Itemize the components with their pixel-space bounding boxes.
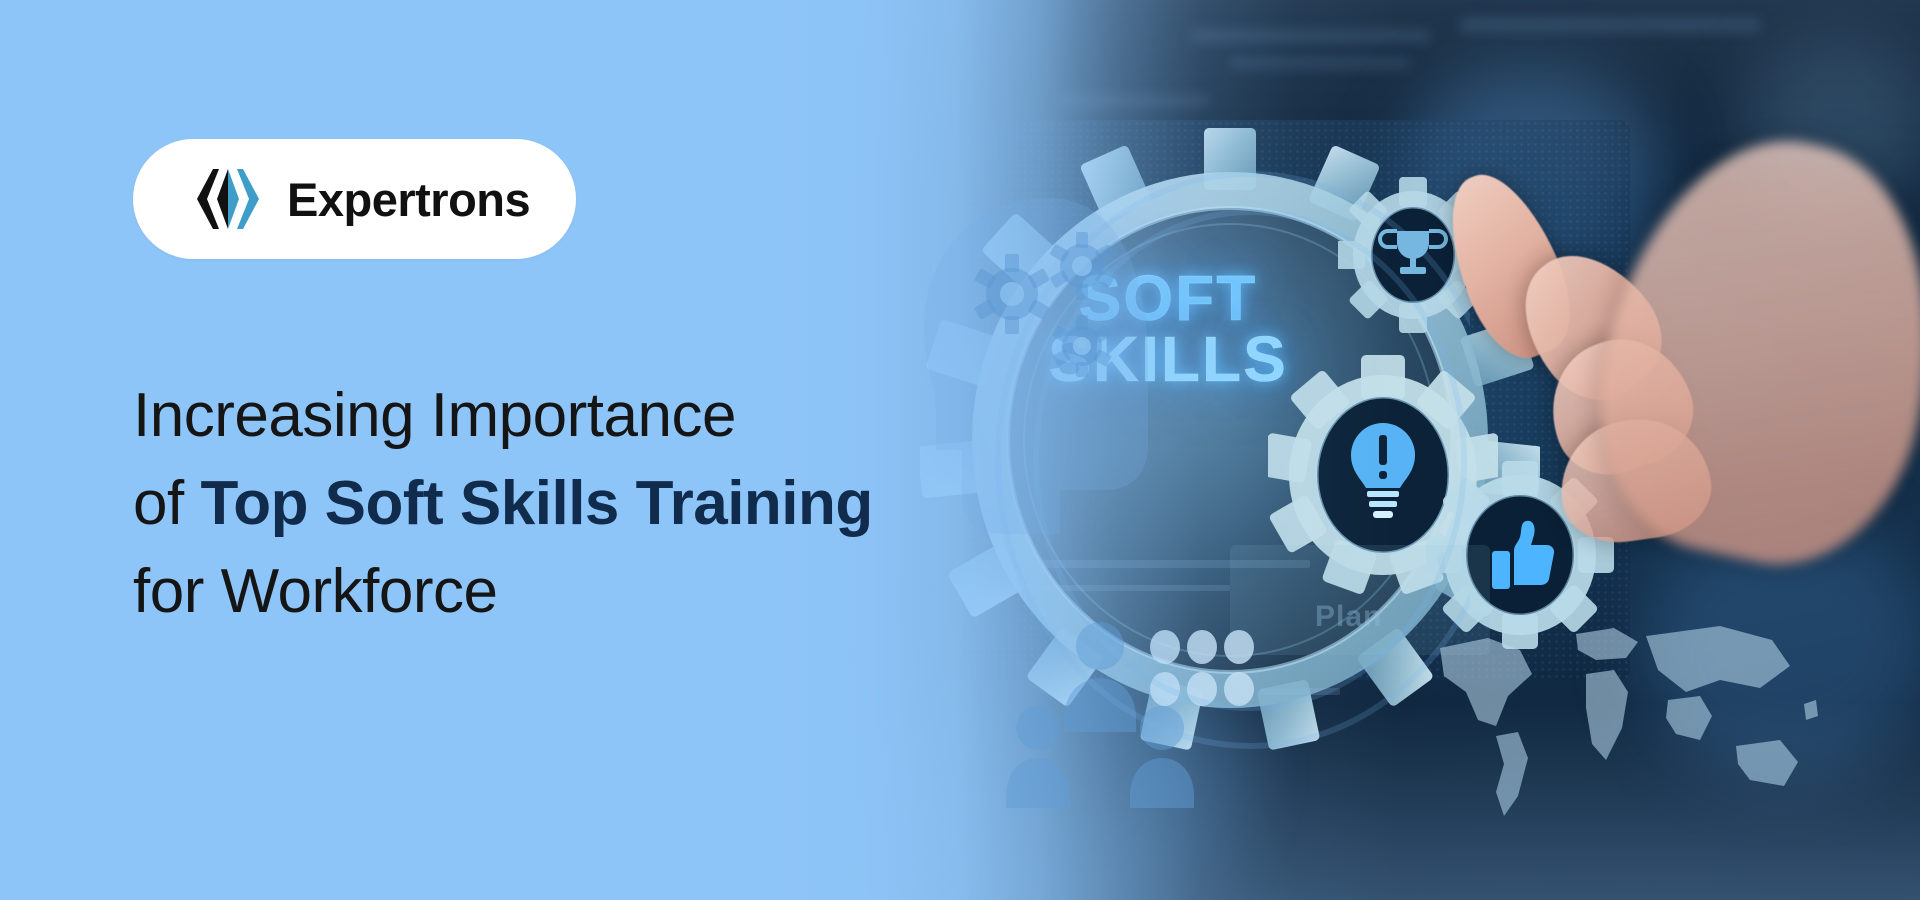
rack-stripe	[1060, 96, 1210, 105]
headline-line-2: of Top Soft Skills Training	[133, 460, 1013, 548]
phone-icon	[1224, 672, 1254, 706]
headline-line-2-prefix: of	[133, 469, 200, 538]
headline-line-3: for Workforce	[133, 548, 1013, 636]
briefcase-icon	[1187, 672, 1217, 706]
page-title: Increasing Importance of Top Soft Skills…	[133, 372, 1013, 636]
headline-line-2-strong: Top Soft Skills Training	[200, 469, 872, 538]
user-icon	[1150, 630, 1180, 664]
ui-bar	[1010, 585, 1230, 591]
brand-wordmark: Expertrons	[287, 172, 530, 227]
group-icon	[1187, 630, 1217, 664]
banner-canvas: SOFT SKILLS	[0, 0, 1920, 900]
rack-stripe	[1230, 58, 1410, 68]
plan-label: Plan	[1315, 600, 1382, 634]
location-pin-icon	[1224, 630, 1254, 664]
rack-stripe	[1460, 18, 1760, 32]
chart-icon	[1150, 672, 1180, 706]
headline-line-1: Increasing Importance	[133, 372, 1013, 460]
world-map	[1400, 600, 1820, 830]
logo-badge[interactable]: Expertrons	[133, 139, 576, 259]
expertrons-logo-icon	[191, 167, 265, 231]
rack-stripe	[1190, 30, 1430, 42]
mini-icon-grid	[1150, 630, 1280, 720]
